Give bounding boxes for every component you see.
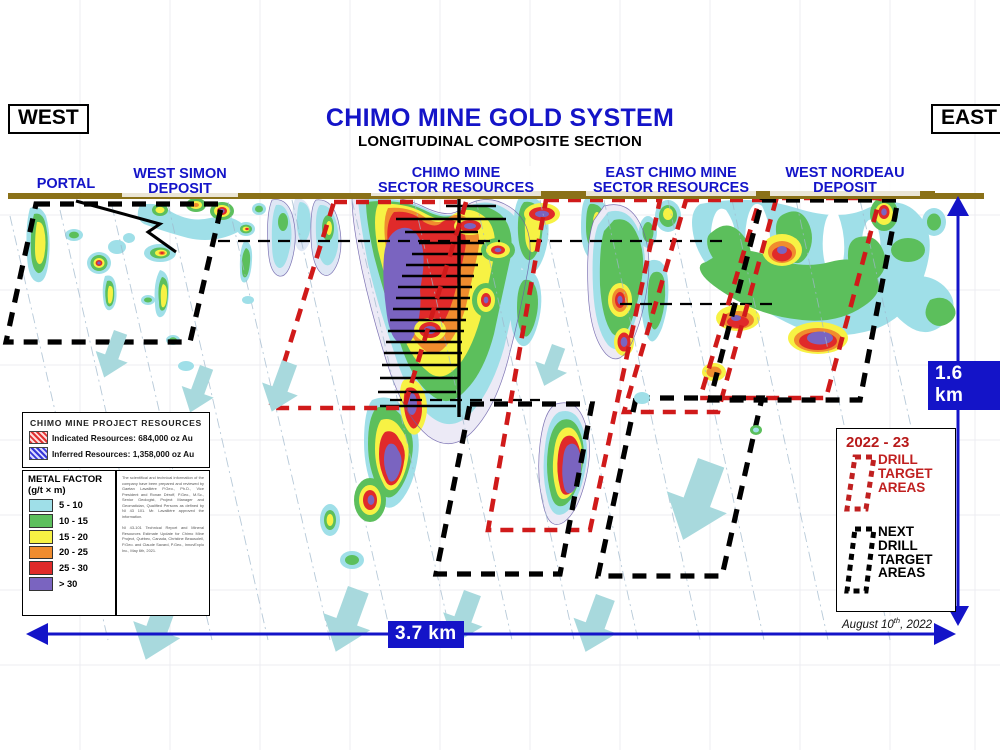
drill-target-red-entry: DRILL TARGET AREAS [844, 453, 955, 515]
metal-factor-band: > 30 [29, 577, 115, 591]
deposit-label-west-simon-line1: WEST SIMON [122, 167, 238, 182]
vertical-scale-label: 1.6 km [928, 361, 1000, 410]
metal-factor-band: 20 - 25 [29, 546, 115, 560]
metal-factor-band: 10 - 15 [29, 514, 115, 528]
black-dashed-parallelogram-icon [844, 525, 878, 597]
horizontal-scale-label: 3.7 km [388, 621, 464, 648]
metal-factor-label-25-30: 25 - 30 [59, 563, 88, 573]
metal-factor-title: METAL FACTOR (g/t × m) [28, 475, 115, 496]
metal-factor-band: 25 - 30 [29, 561, 115, 575]
west-nordeau-anomalies [692, 197, 956, 381]
metal-factor-title-line2: (g/t × m) [28, 486, 115, 497]
metal-factor-swatch-20-25 [29, 546, 53, 560]
portal-anomalies [26, 198, 266, 371]
drill-target-year: 2022 - 23 [846, 434, 955, 451]
inferred-resources-label: Inferred Resources: 1,358,000 oz Au [52, 449, 194, 459]
deposit-label-east-chimo: EAST CHIMO MINE SECTOR RESOURCES [586, 166, 756, 196]
deposit-label-west-simon-line2: DEPOSIT [122, 182, 238, 197]
deposit-label-east-chimo-line1: EAST CHIMO MINE [586, 166, 756, 181]
drill-target-red-line3: AREAS [878, 481, 933, 495]
deposit-label-chimo-mine-line2: SECTOR RESOURCES [371, 181, 541, 196]
metal-factor-label-5-10: 5 - 10 [59, 500, 83, 510]
metal-factor-swatch-over-30 [29, 577, 53, 591]
metal-factor-swatch-10-15 [29, 514, 53, 528]
drill-target-black-line2: DRILL [878, 539, 933, 553]
deposit-label-chimo-mine: CHIMO MINE SECTOR RESOURCES [371, 166, 541, 196]
red-dashed-parallelogram-icon [844, 453, 878, 515]
deposit-label-west-nordeau-line1: WEST NORDEAU [770, 166, 920, 181]
disclaimer-box: The scientifical and technical informati… [116, 470, 210, 616]
drill-target-black-line1: NEXT [878, 525, 933, 539]
section-figure: WEST EAST CHIMO MINE GOLD SYSTEM LONGITU… [0, 0, 1000, 750]
drill-target-red-line2: TARGET [878, 467, 933, 481]
page-title: CHIMO MINE GOLD SYSTEM [0, 104, 1000, 133]
metal-factor-legend: METAL FACTOR (g/t × m) 5 - 10 10 - 15 15… [22, 470, 116, 616]
resources-legend: CHIMO MINE PROJECT RESOURCES Indicated R… [22, 412, 210, 468]
horizontal-scale-bar [26, 618, 956, 650]
metal-factor-swatch-15-20 [29, 530, 53, 544]
deposit-label-east-chimo-line2: SECTOR RESOURCES [586, 181, 756, 196]
metal-factor-band: 15 - 20 [29, 530, 115, 544]
resources-legend-row-indicated: Indicated Resources: 684,000 oz Au [29, 431, 209, 444]
chimo-mine-anomalies [352, 196, 610, 525]
drill-target-legend: 2022 - 23 DRILL TARGET AREAS NEXT DRILL … [836, 428, 956, 612]
disclaimer-paragraph-2: NI 43-101 Technical Report and Mineral R… [122, 525, 204, 553]
drill-target-black-entry: NEXT DRILL TARGET AREAS [844, 525, 955, 597]
indicated-hatch-swatch [29, 431, 48, 444]
date-stamp-text: August 10 [842, 619, 894, 631]
date-stamp: August 10th, 2022 [842, 616, 932, 631]
metal-factor-label-10-15: 10 - 15 [59, 516, 88, 526]
date-stamp-suffix: , 2022 [900, 619, 932, 631]
metal-factor-label-20-25: 20 - 25 [59, 547, 88, 557]
metal-factor-label-over-30: > 30 [59, 579, 77, 589]
deposit-label-west-simon: WEST SIMON DEPOSIT [122, 167, 238, 197]
resources-legend-header: CHIMO MINE PROJECT RESOURCES [23, 418, 209, 428]
drill-target-red-line1: DRILL [878, 453, 933, 467]
page-subtitle: LONGITUDINAL COMPOSITE SECTION [0, 133, 1000, 150]
east-chimo-anomalies [588, 200, 681, 359]
deposit-label-west-nordeau: WEST NORDEAU DEPOSIT [770, 166, 920, 196]
inferred-hatch-swatch [29, 447, 48, 460]
drill-target-black-line3: TARGET [878, 553, 933, 567]
metal-factor-label-15-20: 15 - 20 [59, 532, 88, 542]
drill-target-black-line4: AREAS [878, 566, 933, 580]
indicated-resources-label: Indicated Resources: 684,000 oz Au [52, 433, 193, 443]
metal-factor-swatch-5-10 [29, 499, 53, 513]
deposit-label-portal: PORTAL [22, 177, 110, 192]
metal-factor-swatch-25-30 [29, 561, 53, 575]
metal-factor-band: 5 - 10 [29, 499, 115, 513]
drill-target-red-text: DRILL TARGET AREAS [878, 453, 933, 494]
deposit-label-chimo-mine-line1: CHIMO MINE [371, 166, 541, 181]
resources-legend-row-inferred: Inferred Resources: 1,358,000 oz Au [29, 447, 209, 460]
drill-target-black-text: NEXT DRILL TARGET AREAS [878, 525, 933, 580]
disclaimer-paragraph-1: The scientifical and technical informati… [122, 475, 204, 519]
deposit-label-west-nordeau-line2: DEPOSIT [770, 181, 920, 196]
